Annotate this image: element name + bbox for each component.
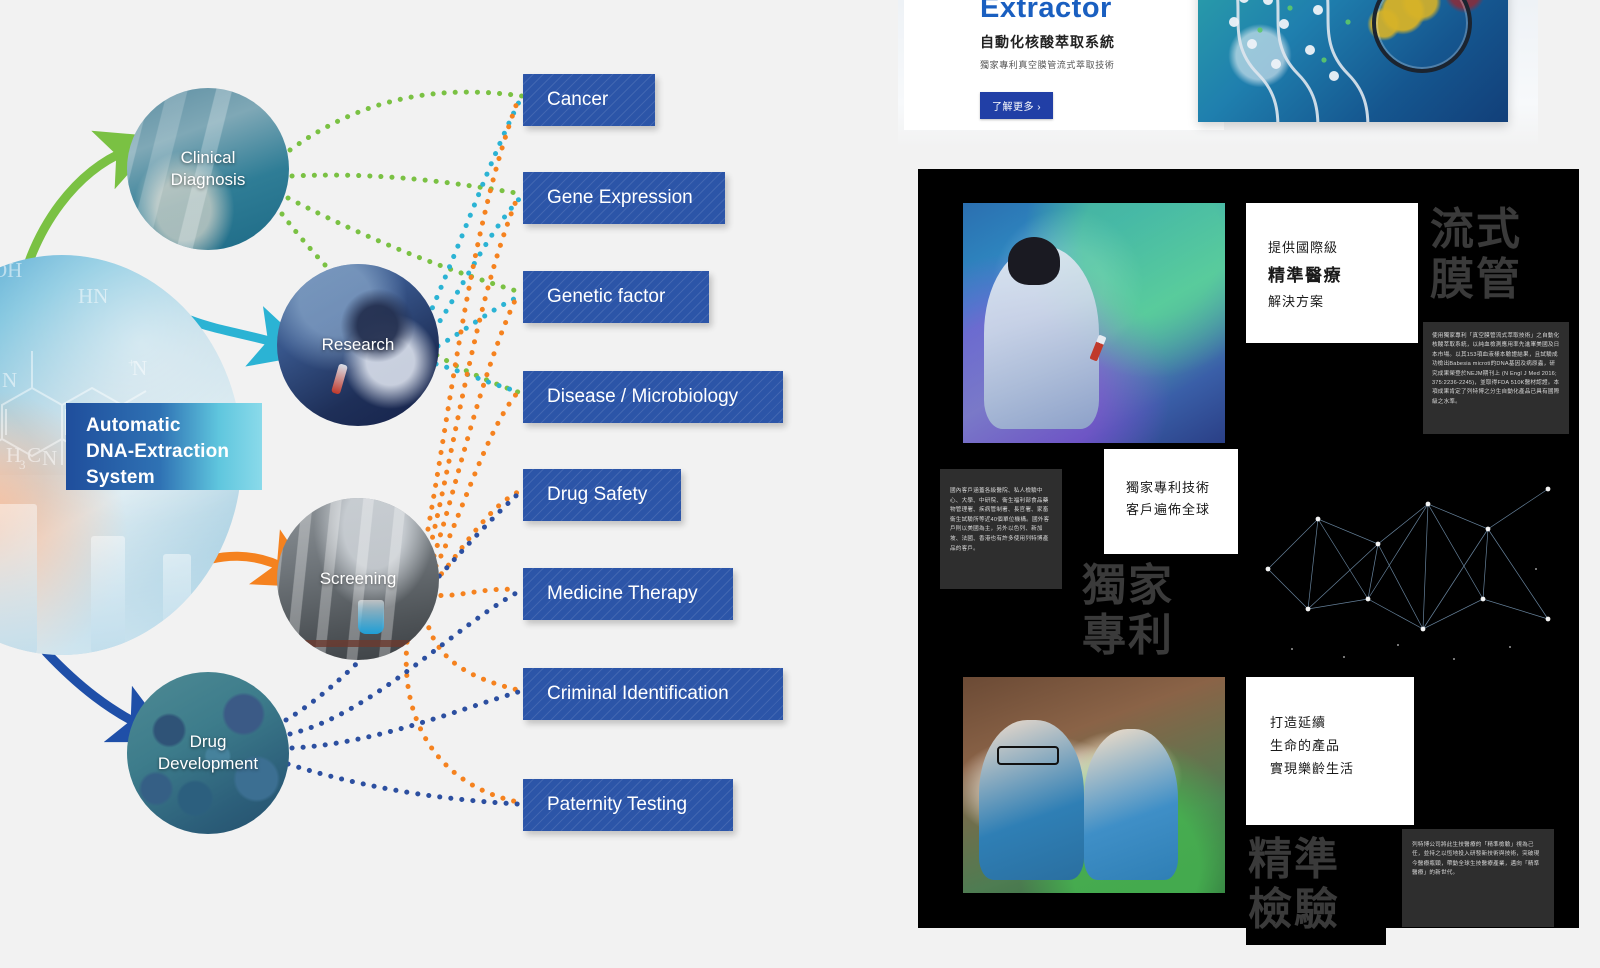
node-label-line1: Research	[322, 334, 395, 356]
tag-gene-expression[interactable]: Gene Expression	[523, 172, 725, 224]
node-drug-development[interactable]: Drug Development	[127, 672, 289, 834]
hero-label-line2: DNA-Extraction	[86, 439, 262, 465]
panel-photo-global-network	[1248, 449, 1569, 673]
node-clinical-diagnosis[interactable]: Clinical Diagnosis	[127, 88, 289, 250]
node-research-label: Research	[314, 334, 403, 356]
bigword-line-1: 流式	[1430, 205, 1562, 255]
svg-text:C: C	[27, 443, 41, 467]
beaker-icon	[358, 600, 384, 634]
website-hero-tagline: 獨家專利真空膜管流式萃取技術	[980, 58, 1114, 71]
panel-note-patent-technology: 使用獨家專利「真空膜管流式萃取技術」之自動化核酸萃取系統，以純血檢測應用率先進軍…	[1423, 322, 1569, 434]
line-1: 獨家專利技術	[1126, 477, 1238, 499]
panel-photo-scientist	[963, 203, 1225, 443]
bigword-line-1: 精準	[1248, 835, 1386, 885]
node-clinical-diagnosis-label: Clinical Diagnosis	[163, 147, 254, 191]
hero-dna-illustration	[1198, 0, 1508, 122]
tag-criminal-identification[interactable]: Criminal Identification	[523, 668, 783, 720]
node-screening[interactable]: Screening	[277, 498, 439, 660]
tag-label: Paternity Testing	[547, 794, 687, 816]
svg-text:+: +	[128, 355, 135, 370]
learn-more-button[interactable]: 了解更多 ›	[980, 92, 1053, 119]
elder-figure	[979, 720, 1084, 880]
panel-bigword-exclusive-patent: 獨家 專利	[1080, 555, 1212, 671]
svg-text:HN: HN	[78, 284, 108, 308]
bigword-line-2: 專利	[1082, 611, 1212, 661]
node-screening-label: Screening	[312, 568, 405, 590]
line-2: 客戶遍佈全球	[1126, 499, 1238, 521]
line-1: 打造延續	[1270, 711, 1414, 734]
panel-bigword-flow-membrane: 流式 膜管	[1430, 199, 1562, 315]
tag-label: Genetic factor	[547, 286, 665, 308]
svg-text:N: N	[2, 368, 17, 392]
node-label-line1: Drug	[158, 731, 258, 753]
tag-genetic-factor[interactable]: Genetic factor	[523, 271, 709, 323]
tag-label: Drug Safety	[547, 484, 647, 506]
screenshot-root: OH HN H3C N N N + H3C Automatic	[0, 0, 1600, 968]
website-hero-title: Extractor	[980, 0, 1112, 25]
bigword-line-2: 檢驗	[1248, 885, 1386, 935]
dotted-connectors	[282, 92, 522, 804]
bigword-line-2: 膜管	[1430, 255, 1562, 305]
tag-label: Criminal Identification	[547, 683, 729, 705]
bigword-line-1: 獨家	[1082, 561, 1212, 611]
panel-photo-grandfather-child	[963, 677, 1225, 893]
node-label-line1: Clinical	[171, 147, 246, 169]
tag-label: Cancer	[547, 89, 608, 111]
line-3: 解決方案	[1268, 291, 1418, 310]
line-1: 提供國際級	[1268, 237, 1418, 256]
hero-label-line3: System	[86, 465, 262, 491]
line-2: 精準醫療	[1268, 261, 1418, 286]
glassware-group	[0, 475, 242, 655]
glasses-icon	[997, 746, 1059, 765]
node-drug-development-label: Drug Development	[150, 731, 266, 775]
node-label-line1: Screening	[320, 568, 397, 590]
website-dark-panel: 提供國際級 精準醫療 解決方案 流式 膜管 使用獨家專利「真空膜管流式萃取技術」…	[918, 169, 1579, 928]
node-research[interactable]: Research	[277, 264, 439, 426]
tag-disease-microbiology[interactable]: Disease / Microbiology	[523, 371, 783, 423]
panel-text-precision-medicine: 提供國際級 精準醫療 解決方案	[1246, 203, 1418, 343]
svg-text:3: 3	[19, 457, 26, 472]
panel-note-precision-medicine-mission: 列特博公司將此生技醫療的「精準檢驗」視為己任，並持之以恆地投入研發新技術與技術，…	[1402, 829, 1554, 927]
lab-bench	[277, 640, 439, 647]
website-hero-subtitle: 自動化核酸萃取系統	[980, 32, 1115, 52]
flask-2	[0, 504, 37, 655]
hero-label-box: Automatic DNA-Extraction System	[66, 403, 262, 490]
test-tube-icon	[331, 364, 348, 395]
panel-bigword-precision-testing: 精準 檢驗	[1246, 829, 1386, 945]
tag-paternity-testing[interactable]: Paternity Testing	[523, 779, 733, 831]
flask-4	[163, 554, 191, 655]
node-label-line2: Diagnosis	[171, 169, 246, 191]
panel-note-customer-base: 國內客戶涵蓋各級醫院、私人檢驗中心、大學、中研院、衛生福利部食品藥物管理署、疾病…	[940, 469, 1062, 589]
tag-label: Gene Expression	[547, 187, 693, 209]
website-hero-section: Extractor 自動化核酸萃取系統 獨家專利真空膜管流式萃取技術 了解更多 …	[898, 0, 1538, 148]
line-3: 實現樂齡生活	[1270, 757, 1414, 780]
svg-text:OH: OH	[0, 258, 22, 282]
scientist-hair	[1008, 237, 1060, 285]
panel-text-life-products: 打造延續 生命的產品 實現樂齡生活	[1246, 677, 1414, 825]
network-globe-graphic	[1248, 449, 1569, 673]
tag-medicine-therapy[interactable]: Medicine Therapy	[523, 568, 733, 620]
child-figure	[1084, 729, 1178, 880]
dna-extraction-application-diagram: OH HN H3C N N N + H3C Automatic	[0, 0, 880, 968]
website-preview: Extractor 自動化核酸萃取系統 獨家專利真空膜管流式萃取技術 了解更多 …	[898, 0, 1600, 968]
tag-drug-safety[interactable]: Drug Safety	[523, 469, 681, 521]
hero-label-line1: Automatic	[86, 413, 262, 439]
flask-3	[91, 536, 125, 655]
svg-text:N: N	[42, 446, 57, 470]
node-label-line2: Development	[158, 753, 258, 775]
tag-label: Medicine Therapy	[547, 583, 698, 605]
tag-label: Disease / Microbiology	[547, 386, 738, 408]
line-2: 生命的產品	[1270, 734, 1414, 757]
tag-cancer[interactable]: Cancer	[523, 74, 655, 126]
panel-text-global-customers: 獨家專利技術 客戶遍佈全球	[1104, 449, 1238, 554]
